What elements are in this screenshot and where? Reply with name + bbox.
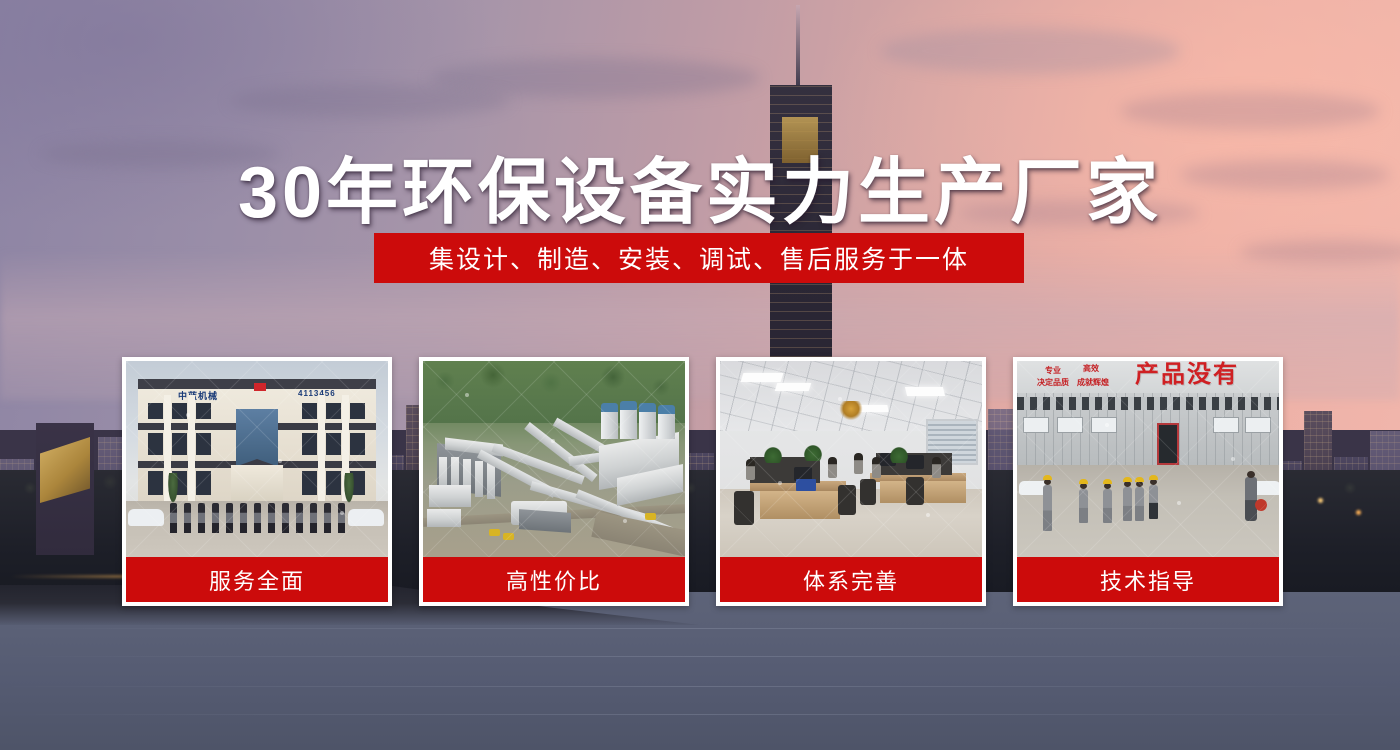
building-sign-text: 中蓝机械 <box>178 389 218 402</box>
feature-card-service[interactable]: 中蓝机械 4113456 <box>122 357 392 606</box>
factory-slogan-large: 产品没有 <box>1135 363 1239 387</box>
factory-slogan-small-1: 专业 <box>1045 365 1061 376</box>
hero-banner: 30年环保设备实力生产厂家 集设计、制造、安装、调试、售后服务于一体 中蓝机械 … <box>0 0 1400 750</box>
feature-card-system[interactable]: 体系完善 <box>716 357 986 606</box>
card-photo-worker-training: 产品没有 专业 高效 决定品质 成就辉煌 <box>1017 361 1279 557</box>
feature-card-technical[interactable]: 产品没有 专业 高效 决定品质 成就辉煌 <box>1013 357 1283 606</box>
card-photo-plant-aerial <box>423 361 685 557</box>
card-caption: 高性价比 <box>423 557 685 602</box>
cloud <box>230 84 510 118</box>
factory-slogan-small-2: 高效 <box>1083 363 1099 374</box>
card-caption: 体系完善 <box>720 557 982 602</box>
wall-logo-icon <box>838 401 864 423</box>
building-phone-text: 4113456 <box>298 389 336 398</box>
card-photo-office-interior <box>720 361 982 557</box>
page-title: 30年环保设备实力生产厂家 <box>0 133 1400 238</box>
card-caption: 技术指导 <box>1017 557 1279 602</box>
feature-card-list: 中蓝机械 4113456 <box>122 357 1275 606</box>
cloud <box>1120 92 1380 130</box>
subtitle-banner: 集设计、制造、安装、调试、售后服务于一体 <box>374 233 1024 283</box>
factory-slogan-small-4: 成就辉煌 <box>1077 377 1109 388</box>
feature-card-value[interactable]: 高性价比 <box>419 357 689 606</box>
card-photo-company-building: 中蓝机械 4113456 <box>126 361 388 557</box>
subtitle-text: 集设计、制造、安装、调试、售后服务于一体 <box>429 240 969 276</box>
card-caption: 服务全面 <box>126 557 388 602</box>
cloud <box>880 28 1180 74</box>
factory-slogan-small-3: 决定品质 <box>1037 377 1069 388</box>
